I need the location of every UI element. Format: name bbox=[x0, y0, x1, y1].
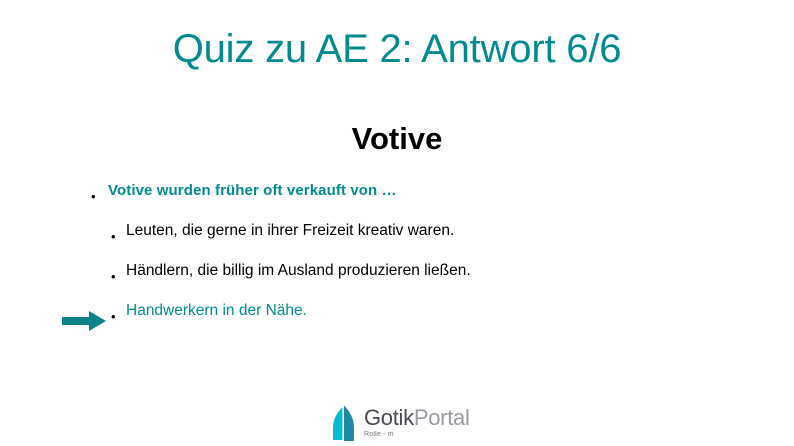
bullet-marker-icon: • bbox=[91, 190, 96, 203]
bullet-marker-icon: • bbox=[111, 310, 116, 323]
bullet-marker-icon: • bbox=[111, 230, 116, 243]
logo-word-primary: Gotik bbox=[364, 405, 414, 430]
list-item: • Leuten, die gerne in ihrer Freizeit kr… bbox=[0, 222, 794, 262]
logo-tagline: Rolle - m bbox=[364, 431, 470, 438]
arrow-right-icon bbox=[62, 310, 106, 332]
slide-canvas: Quiz zu AE 2: Antwort 6/6 Votive • Votiv… bbox=[0, 0, 794, 446]
footer-logo: GotikPortal Rolle - m bbox=[331, 404, 471, 444]
list-item-label: Händlern, die billig im Ausland produzie… bbox=[126, 262, 471, 280]
logo-word-secondary: Portal bbox=[414, 405, 470, 430]
list-item: • Votive wurden früher oft verkauft von … bbox=[0, 182, 794, 222]
list-item: • Händlern, die billig im Ausland produz… bbox=[0, 262, 794, 302]
slide-heading: Votive bbox=[0, 120, 794, 157]
gothic-arch-logo-icon bbox=[331, 405, 357, 441]
bullet-marker-icon: • bbox=[111, 270, 116, 283]
slide-title: Quiz zu AE 2: Antwort 6/6 bbox=[0, 26, 794, 72]
list-item-label: Handwerkern in der Nähe. bbox=[126, 302, 307, 320]
list-item-answer: • Handwerkern in der Nähe. bbox=[0, 302, 794, 342]
list-item-label: Leuten, die gerne in ihrer Freizeit krea… bbox=[126, 222, 454, 240]
logo-wordmark: GotikPortal Rolle - m bbox=[364, 407, 470, 438]
list-item-label: Votive wurden früher oft verkauft von … bbox=[108, 182, 397, 199]
